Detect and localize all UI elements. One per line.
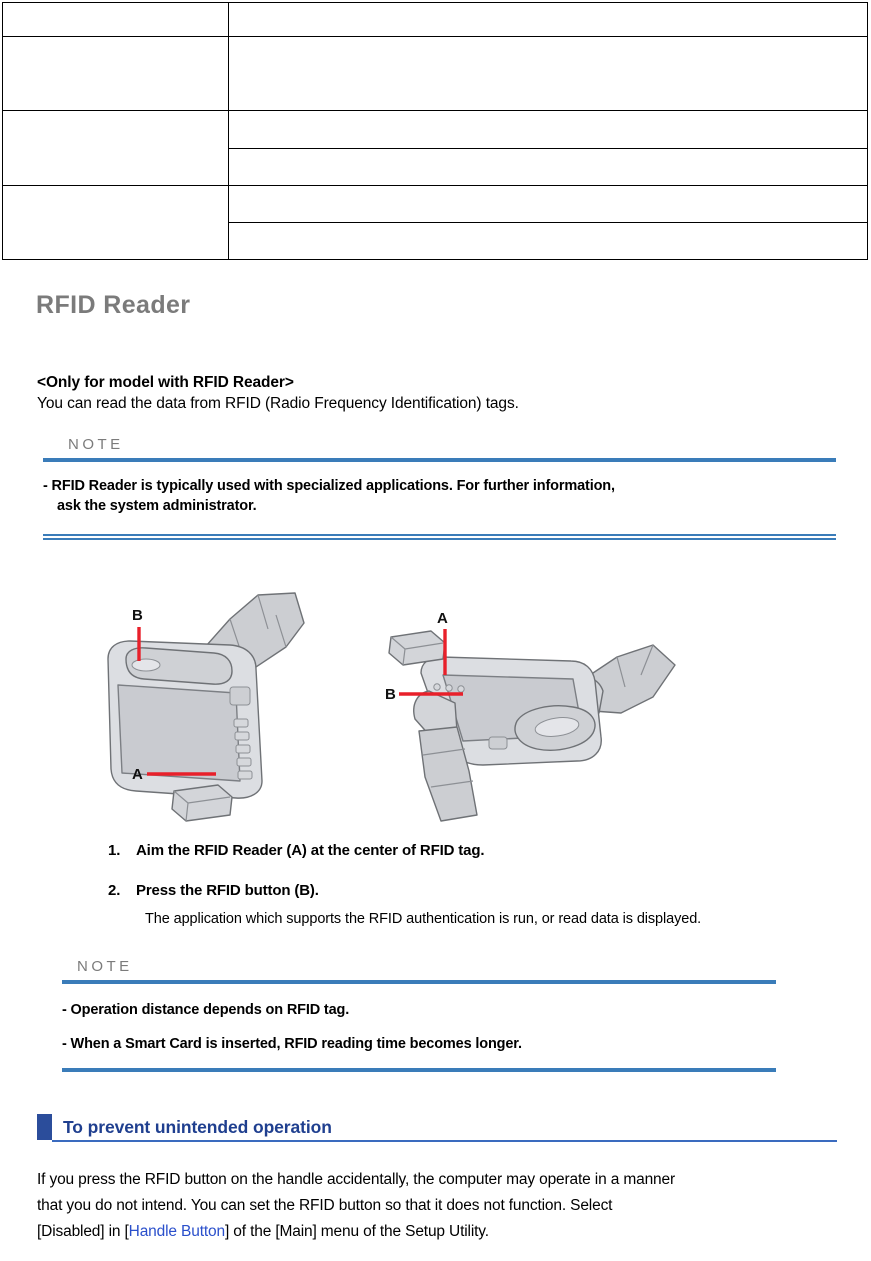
note-label: NOTE — [68, 436, 836, 454]
note-line: - Operation distance depends on RFID tag… — [62, 1000, 776, 1020]
note-box-secondary: NOTE - Operation distance depends on RFI… — [62, 958, 776, 1072]
illustration-group: B A — [60, 585, 820, 830]
tablet-tilted-drawing: A B — [385, 595, 685, 825]
table-row — [3, 185, 868, 222]
note-body: - RFID Reader is typically used with spe… — [43, 462, 836, 532]
closing-text-post: ] of the [Main] menu of the Setup Utilit… — [225, 1223, 489, 1240]
note-box-primary: NOTE - RFID Reader is typically used wit… — [43, 436, 836, 540]
closing-line: that you do not intend. You can set the … — [37, 1193, 837, 1219]
procedure-steps: 1. Aim the RFID Reader (A) at the center… — [108, 840, 848, 929]
table-row — [3, 3, 868, 37]
note-bottom-rule — [62, 1068, 776, 1072]
model-applicability-note: <Only for model with RFID Reader> — [37, 372, 837, 393]
closing-paragraph: If you press the RFID button on the hand… — [37, 1167, 837, 1245]
closing-line-with-link: [Disabled] in [Handle Button] of the [Ma… — [37, 1219, 837, 1245]
svg-text:B: B — [385, 686, 396, 703]
step-item: 1. Aim the RFID Reader (A) at the center… — [108, 840, 848, 861]
table-cell-value — [229, 37, 868, 111]
step-description: The application which supports the RFID … — [145, 909, 848, 929]
subsection-title: To prevent unintended operation — [63, 1114, 332, 1140]
table-cell-value — [229, 111, 868, 148]
note-label: NOTE — [77, 958, 776, 976]
subsection-marker-icon — [37, 1114, 52, 1140]
figure-tablet-upright: B A — [90, 585, 370, 830]
table-cell-value — [229, 185, 868, 222]
closing-line: If you press the RFID button on the hand… — [37, 1167, 837, 1193]
svg-text:A: A — [437, 610, 448, 627]
table-cell-label — [3, 185, 229, 259]
table-cell-label — [3, 111, 229, 185]
svg-text:A: A — [132, 766, 143, 783]
table-row — [3, 111, 868, 148]
handle-button-link[interactable]: Handle Button — [129, 1223, 225, 1240]
subsection-rule — [52, 1140, 837, 1142]
step-number: 1. — [108, 840, 136, 861]
table-cell-label — [3, 3, 229, 37]
intro-paragraph: You can read the data from RFID (Radio F… — [37, 393, 837, 415]
step-text: Aim the RFID Reader (A) at the center of… — [136, 840, 484, 861]
page-title: RFID Reader — [36, 291, 190, 320]
note-bottom-rule — [43, 534, 836, 540]
figure-tablet-tilted: A B — [385, 595, 685, 825]
specification-table — [2, 2, 868, 260]
step-text: Press the RFID button (B). — [136, 880, 319, 901]
table-cell-value — [229, 222, 868, 259]
note-line: ask the system administrator. — [43, 496, 836, 516]
table-cell-value — [229, 148, 868, 185]
table-cell-label — [3, 37, 229, 111]
step-number: 2. — [108, 880, 136, 901]
closing-text-pre: [Disabled] in [ — [37, 1223, 129, 1240]
subsection-header: To prevent unintended operation — [37, 1114, 837, 1142]
note-line: - RFID Reader is typically used with spe… — [43, 476, 836, 496]
tablet-upright-drawing: B A — [90, 585, 370, 830]
step-item: 2. Press the RFID button (B). The applic… — [108, 880, 848, 929]
table-row — [3, 37, 868, 111]
table-cell-value — [229, 3, 868, 37]
note-line: - When a Smart Card is inserted, RFID re… — [62, 1034, 776, 1054]
note-body: - Operation distance depends on RFID tag… — [62, 984, 776, 1068]
intro-block: <Only for model with RFID Reader> You ca… — [37, 372, 837, 415]
svg-text:B: B — [132, 607, 143, 624]
